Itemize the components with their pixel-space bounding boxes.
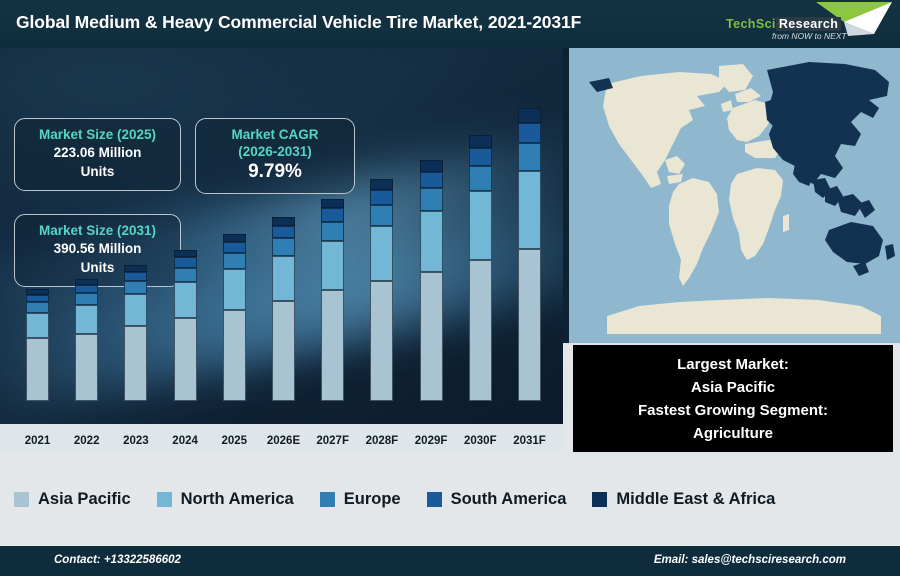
legend-item-south-america[interactable]: South America xyxy=(427,490,593,509)
x-axis-label-2027F: 2027F xyxy=(307,435,358,447)
infographic-page: Global Medium & Heavy Commercial Vehicle… xyxy=(0,0,900,576)
bar-segment-europe xyxy=(124,281,147,294)
legend-label: Middle East & Africa xyxy=(616,490,775,509)
bar-segment-north-america xyxy=(420,211,443,273)
bar-segment-asia-pacific xyxy=(420,272,443,401)
bar-2030F xyxy=(469,135,492,401)
bar-2025 xyxy=(223,234,246,401)
legend-swatch-icon xyxy=(14,492,29,507)
bar-segment-asia-pacific xyxy=(223,310,246,402)
bar-segment-south-america xyxy=(321,208,344,222)
logo-name-part1: TechSci xyxy=(726,17,776,31)
bar-segment-europe xyxy=(370,205,393,226)
bar-segment-south-america xyxy=(223,242,246,254)
bar-segment-south-america xyxy=(420,172,443,189)
bar-segment-north-america xyxy=(223,269,246,310)
bar-segment-asia-pacific xyxy=(272,301,295,402)
bar-2027F xyxy=(321,199,344,402)
legend-swatch-icon xyxy=(157,492,172,507)
legend-item-europe[interactable]: Europe xyxy=(320,490,427,509)
bar-2031F xyxy=(518,108,541,401)
bar-segment-asia-pacific xyxy=(26,338,49,401)
techsci-logo[interactable]: TechSciResearch from NOW to NEXT xyxy=(708,0,894,48)
footer-email[interactable]: Email: sales@techsciresearch.com xyxy=(654,554,846,566)
bar-segment-europe xyxy=(321,222,344,241)
chart-panel: Market Size (2025) 223.06 Million Units … xyxy=(0,48,563,453)
bar-segment-north-america xyxy=(321,241,344,291)
legend-item-middle-east-africa[interactable]: Middle East & Africa xyxy=(592,490,801,509)
fastest-segment-value: Agriculture xyxy=(693,422,773,445)
legend-swatch-icon xyxy=(592,492,607,507)
legend-item-asia-pacific[interactable]: Asia Pacific xyxy=(14,490,157,509)
largest-market-label: Largest Market: xyxy=(677,353,789,376)
bar-segment-south-america xyxy=(272,226,295,239)
x-axis-label-2022: 2022 xyxy=(61,435,112,447)
bar-segment-north-america xyxy=(272,256,295,301)
legend-label: Europe xyxy=(344,490,401,509)
bar-segment-south-america xyxy=(124,272,147,281)
bar-segment-europe xyxy=(75,293,98,305)
bar-segment-asia-pacific xyxy=(174,318,197,401)
map-land-shapes xyxy=(589,62,895,334)
bar-2023 xyxy=(124,265,147,402)
bar-segment-asia-pacific xyxy=(124,326,147,401)
logo-wordmark: TechSciResearch xyxy=(726,17,841,31)
x-axis-label-2029F: 2029F xyxy=(406,435,457,447)
bar-segment-europe xyxy=(469,166,492,191)
bar-segment-north-america xyxy=(75,305,98,334)
chart-legend: Asia PacificNorth AmericaEuropeSouth Ame… xyxy=(0,453,900,546)
bar-2026E xyxy=(272,217,295,401)
bar-segment-asia-pacific xyxy=(469,260,492,401)
bar-segment-asia-pacific xyxy=(321,290,344,401)
bar-segment-south-america xyxy=(174,257,197,268)
x-axis-label-2030F: 2030F xyxy=(455,435,506,447)
world-map xyxy=(569,48,900,343)
bar-segment-south-america xyxy=(469,148,492,166)
bar-segment-south-america xyxy=(26,295,49,303)
legend-swatch-icon xyxy=(427,492,442,507)
x-axis-label-2023: 2023 xyxy=(110,435,161,447)
bar-segment-europe xyxy=(272,238,295,255)
bar-segment-south-america xyxy=(370,190,393,205)
bar-2024 xyxy=(174,250,197,402)
bar-segment-middle-east-africa xyxy=(469,135,492,149)
fastest-segment-label: Fastest Growing Segment: xyxy=(638,399,828,422)
bar-2021 xyxy=(26,289,49,402)
bar-segment-middle-east-africa xyxy=(370,179,393,190)
bar-segment-north-america xyxy=(124,294,147,326)
header-bar: Global Medium & Heavy Commercial Vehicle… xyxy=(0,0,900,48)
x-axis-label-2031F: 2031F xyxy=(504,435,555,447)
bar-segment-north-america xyxy=(26,313,49,339)
bar-segment-middle-east-africa xyxy=(518,108,541,123)
footer-bar: Contact: +13322586602 Email: sales@techs… xyxy=(0,546,900,576)
x-axis-label-2024: 2024 xyxy=(160,435,211,447)
footer-contact[interactable]: Contact: +13322586602 xyxy=(54,554,181,566)
stacked-bar-chart xyxy=(0,48,563,453)
bar-segment-middle-east-africa xyxy=(272,217,295,225)
bar-2028F xyxy=(370,179,393,401)
bar-2022 xyxy=(75,279,98,401)
bar-segment-north-america xyxy=(518,171,541,249)
x-axis-label-2028F: 2028F xyxy=(356,435,407,447)
largest-market-value: Asia Pacific xyxy=(691,376,775,399)
bar-segment-europe xyxy=(174,268,197,282)
bar-segment-europe xyxy=(26,302,49,313)
world-map-svg xyxy=(569,48,900,343)
bar-2029F xyxy=(420,160,443,402)
bar-segment-middle-east-africa xyxy=(174,250,197,258)
bar-segment-middle-east-africa xyxy=(124,265,147,272)
bar-segment-middle-east-africa xyxy=(223,234,246,242)
legend-label: Asia Pacific xyxy=(38,490,131,509)
legend-label: North America xyxy=(181,490,294,509)
legend-item-north-america[interactable]: North America xyxy=(157,490,320,509)
bar-segment-europe xyxy=(518,143,541,171)
bar-segment-asia-pacific xyxy=(75,334,98,402)
bar-segment-asia-pacific xyxy=(518,249,541,401)
legend-label: South America xyxy=(451,490,567,509)
bar-segment-europe xyxy=(223,253,246,269)
logo-name-part2: Research xyxy=(776,17,842,31)
bar-segment-south-america xyxy=(75,285,98,293)
bar-segment-north-america xyxy=(174,282,197,318)
bar-segment-north-america xyxy=(469,191,492,260)
x-axis-label-2025: 2025 xyxy=(209,435,260,447)
logo-tagline: from NOW to NEXT xyxy=(772,31,847,41)
bar-segment-middle-east-africa xyxy=(321,199,344,208)
bar-segment-middle-east-africa xyxy=(420,160,443,172)
page-title: Global Medium & Heavy Commercial Vehicle… xyxy=(16,12,581,33)
bar-segment-europe xyxy=(420,188,443,211)
x-axis-label-2026E: 2026E xyxy=(258,435,309,447)
bar-segment-north-america xyxy=(370,226,393,282)
x-axis-label-2021: 2021 xyxy=(12,435,63,447)
world-map-panel xyxy=(563,48,900,343)
key-insights-box: Largest Market: Asia Pacific Fastest Gro… xyxy=(573,345,893,452)
bar-segment-south-america xyxy=(518,123,541,143)
legend-swatch-icon xyxy=(320,492,335,507)
bar-segment-asia-pacific xyxy=(370,281,393,401)
